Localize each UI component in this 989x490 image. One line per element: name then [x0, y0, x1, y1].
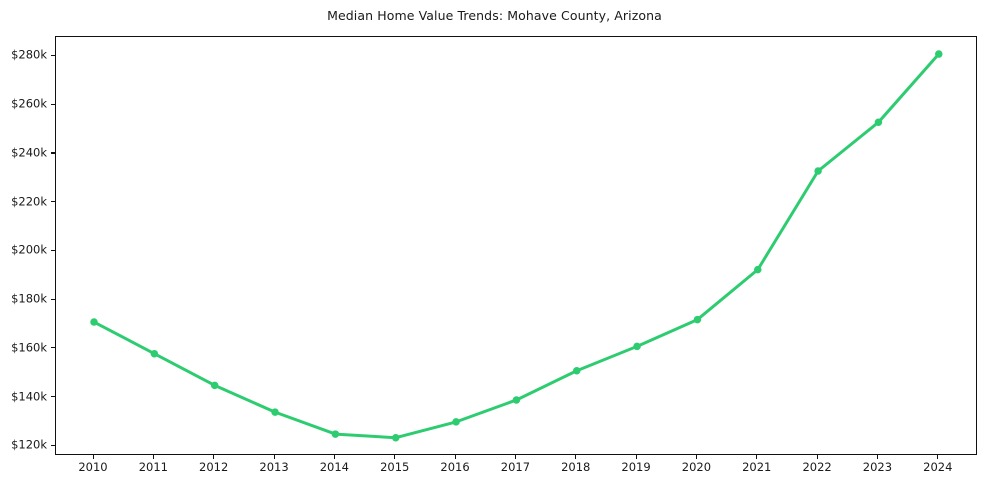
series-line — [94, 54, 939, 438]
x-axis-tick-label: 2014 — [320, 462, 349, 474]
x-axis-tick-label: 2015 — [380, 462, 409, 474]
chart-figure: Median Home Value Trends: Mohave County,… — [0, 0, 989, 490]
x-axis-tick-label: 2012 — [199, 462, 228, 474]
y-axis-tick-label: $180k — [11, 293, 47, 305]
x-axis-tick-label: 2021 — [742, 462, 771, 474]
x-axis-tick-label: 2020 — [682, 462, 711, 474]
y-axis-tick-label: $160k — [11, 342, 47, 354]
series-data-point — [573, 367, 581, 375]
series-data-point — [694, 316, 702, 324]
series-data-point — [875, 119, 883, 127]
series-data-point — [935, 50, 943, 58]
y-axis-tick-label: $280k — [11, 50, 47, 62]
plot-area — [55, 36, 977, 455]
series-data-point — [754, 266, 762, 274]
series-data-point — [271, 408, 279, 416]
x-axis-tick-label: 2024 — [923, 462, 952, 474]
x-axis-tick-label: 2019 — [621, 462, 650, 474]
x-axis-tick-label: 2011 — [139, 462, 168, 474]
series-data-point — [452, 418, 460, 426]
series-data-point — [392, 434, 400, 442]
x-axis-tick-label: 2013 — [259, 462, 288, 474]
y-axis-tick-labels: $120k$140k$160k$180k$200k$220k$240k$260k… — [0, 0, 47, 490]
x-axis-tick-label: 2023 — [863, 462, 892, 474]
y-axis-tick-label: $120k — [11, 440, 47, 452]
y-axis-tick-label: $220k — [11, 196, 47, 208]
x-axis-tick-label: 2010 — [78, 462, 107, 474]
y-axis-tick-label: $240k — [11, 147, 47, 159]
series-data-point — [211, 382, 219, 390]
line-series-svg — [56, 37, 978, 456]
y-axis-tick-label: $200k — [11, 245, 47, 257]
x-axis-tick-label: 2017 — [501, 462, 530, 474]
x-axis-tick-label: 2016 — [440, 462, 469, 474]
x-axis-tick-label: 2018 — [561, 462, 590, 474]
series-data-point — [90, 318, 98, 326]
series-data-point — [814, 167, 822, 175]
y-axis-tick-label: $140k — [11, 391, 47, 403]
y-axis-tick-label: $260k — [11, 98, 47, 110]
series-data-point — [332, 430, 340, 438]
series-data-point — [633, 343, 641, 351]
series-data-point — [513, 396, 521, 404]
x-axis-tick-label: 2022 — [802, 462, 831, 474]
chart-title: Median Home Value Trends: Mohave County,… — [0, 8, 989, 23]
series-data-point — [151, 350, 159, 358]
